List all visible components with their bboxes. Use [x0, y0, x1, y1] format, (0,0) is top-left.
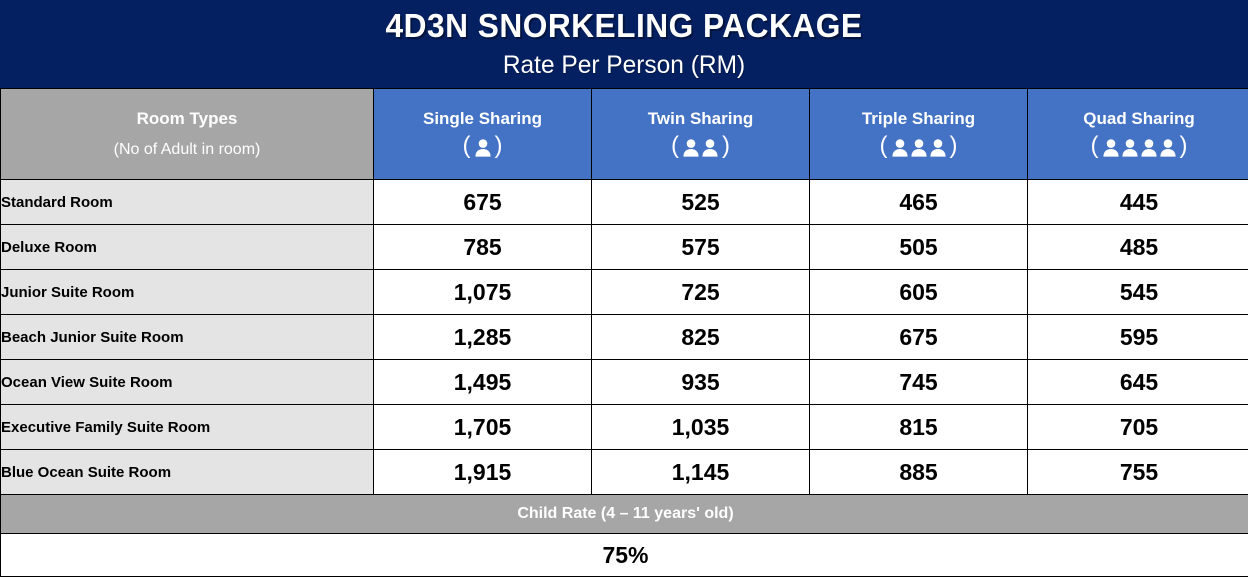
- person-icon: [474, 138, 492, 157]
- paren-close: ): [720, 135, 732, 157]
- person-icon: [1140, 138, 1158, 157]
- rate-single: 675: [374, 180, 592, 225]
- paren-open: (: [669, 135, 681, 157]
- rate-triple: 885: [810, 450, 1028, 495]
- rate-single: 785: [374, 225, 592, 270]
- header-single-sharing-label: Single Sharing: [374, 109, 591, 129]
- person-icon: [682, 138, 700, 157]
- child-rate-label: Child Rate (4 – 11 years' old): [1, 495, 1248, 534]
- room-type-name: Beach Junior Suite Room: [1, 315, 374, 360]
- rate-single: 1,285: [374, 315, 592, 360]
- header-room-types: Room Types (No of Adult in room): [1, 89, 374, 180]
- person-icon: [910, 138, 928, 157]
- twin-sharing-occupancy-icons: ( ): [592, 135, 809, 159]
- person-icon: [1159, 138, 1177, 157]
- rate-single: 1,075: [374, 270, 592, 315]
- room-type-name: Ocean View Suite Room: [1, 360, 374, 405]
- rate-quad: 485: [1028, 225, 1248, 270]
- room-type-name: Standard Room: [1, 180, 374, 225]
- child-rate-label-row: Child Rate (4 – 11 years' old): [1, 495, 1248, 534]
- rate-twin: 1,035: [592, 405, 810, 450]
- header-room-types-subtitle: (No of Adult in room): [1, 141, 373, 159]
- person-icon: [929, 138, 947, 157]
- table-row: Beach Junior Suite Room 1,285 825 675 59…: [1, 315, 1248, 360]
- table-row: Executive Family Suite Room 1,705 1,035 …: [1, 405, 1248, 450]
- triple-sharing-occupancy-icons: (: [810, 135, 1027, 159]
- rate-quad: 595: [1028, 315, 1248, 360]
- rate-quad: 545: [1028, 270, 1248, 315]
- person-icon: [891, 138, 909, 157]
- paren-close: ): [948, 135, 960, 157]
- rate-twin: 525: [592, 180, 810, 225]
- table-row: Junior Suite Room 1,075 725 605 545: [1, 270, 1248, 315]
- rate-single: 1,915: [374, 450, 592, 495]
- rate-quad: 755: [1028, 450, 1248, 495]
- header-triple-sharing-label: Triple Sharing: [810, 109, 1027, 129]
- paren-open: (: [461, 135, 473, 157]
- rate-quad: 705: [1028, 405, 1248, 450]
- room-type-name: Deluxe Room: [1, 225, 374, 270]
- header-room-types-title: Room Types: [1, 109, 373, 129]
- header-triple-sharing: Triple Sharing (: [810, 89, 1028, 180]
- person-icon: [701, 138, 719, 157]
- rate-triple: 675: [810, 315, 1028, 360]
- header-twin-sharing-label: Twin Sharing: [592, 109, 809, 129]
- quad-sharing-occupancy-icons: (: [1028, 135, 1248, 159]
- rate-twin: 825: [592, 315, 810, 360]
- rate-triple: 505: [810, 225, 1028, 270]
- child-rate-value: 75%: [1, 534, 1248, 577]
- rate-twin: 935: [592, 360, 810, 405]
- child-rate-value-row: 75%: [1, 534, 1248, 577]
- rate-triple: 815: [810, 405, 1028, 450]
- room-type-name: Junior Suite Room: [1, 270, 374, 315]
- rate-triple: 605: [810, 270, 1028, 315]
- rate-table: Room Types (No of Adult in room) Single …: [0, 88, 1248, 577]
- page-title: 4D3N SNORKELING PACKAGE: [25, 4, 1223, 48]
- rate-single: 1,705: [374, 405, 592, 450]
- rate-quad: 645: [1028, 360, 1248, 405]
- header-twin-sharing: Twin Sharing (: [592, 89, 810, 180]
- rate-twin: 725: [592, 270, 810, 315]
- rate-quad: 445: [1028, 180, 1248, 225]
- rate-twin: 1,145: [592, 450, 810, 495]
- table-row: Blue Ocean Suite Room 1,915 1,145 885 75…: [1, 450, 1248, 495]
- header-quad-sharing-label: Quad Sharing: [1028, 109, 1248, 129]
- room-type-name: Blue Ocean Suite Room: [1, 450, 374, 495]
- table-row: Ocean View Suite Room 1,495 935 745 645: [1, 360, 1248, 405]
- table-header-row: Room Types (No of Adult in room) Single …: [1, 89, 1248, 180]
- single-sharing-occupancy-icons: ( ): [374, 135, 591, 159]
- banner: 4D3N SNORKELING PACKAGE Rate Per Person …: [0, 0, 1248, 88]
- rate-triple: 465: [810, 180, 1028, 225]
- rate-single: 1,495: [374, 360, 592, 405]
- table-row: Standard Room 675 525 465 445: [1, 180, 1248, 225]
- paren-close: ): [493, 135, 505, 157]
- paren-close: ): [1178, 135, 1190, 157]
- paren-open: (: [878, 135, 890, 157]
- rate-twin: 575: [592, 225, 810, 270]
- table-row: Deluxe Room 785 575 505 485: [1, 225, 1248, 270]
- rate-triple: 745: [810, 360, 1028, 405]
- rate-card-sheet: 4D3N SNORKELING PACKAGE Rate Per Person …: [0, 0, 1248, 575]
- person-icon: [1121, 138, 1139, 157]
- header-single-sharing: Single Sharing ( ): [374, 89, 592, 180]
- paren-open: (: [1089, 135, 1101, 157]
- page-subtitle: Rate Per Person (RM): [12, 48, 1235, 82]
- room-type-name: Executive Family Suite Room: [1, 405, 374, 450]
- header-quad-sharing: Quad Sharing (: [1028, 89, 1248, 180]
- person-icon: [1102, 138, 1120, 157]
